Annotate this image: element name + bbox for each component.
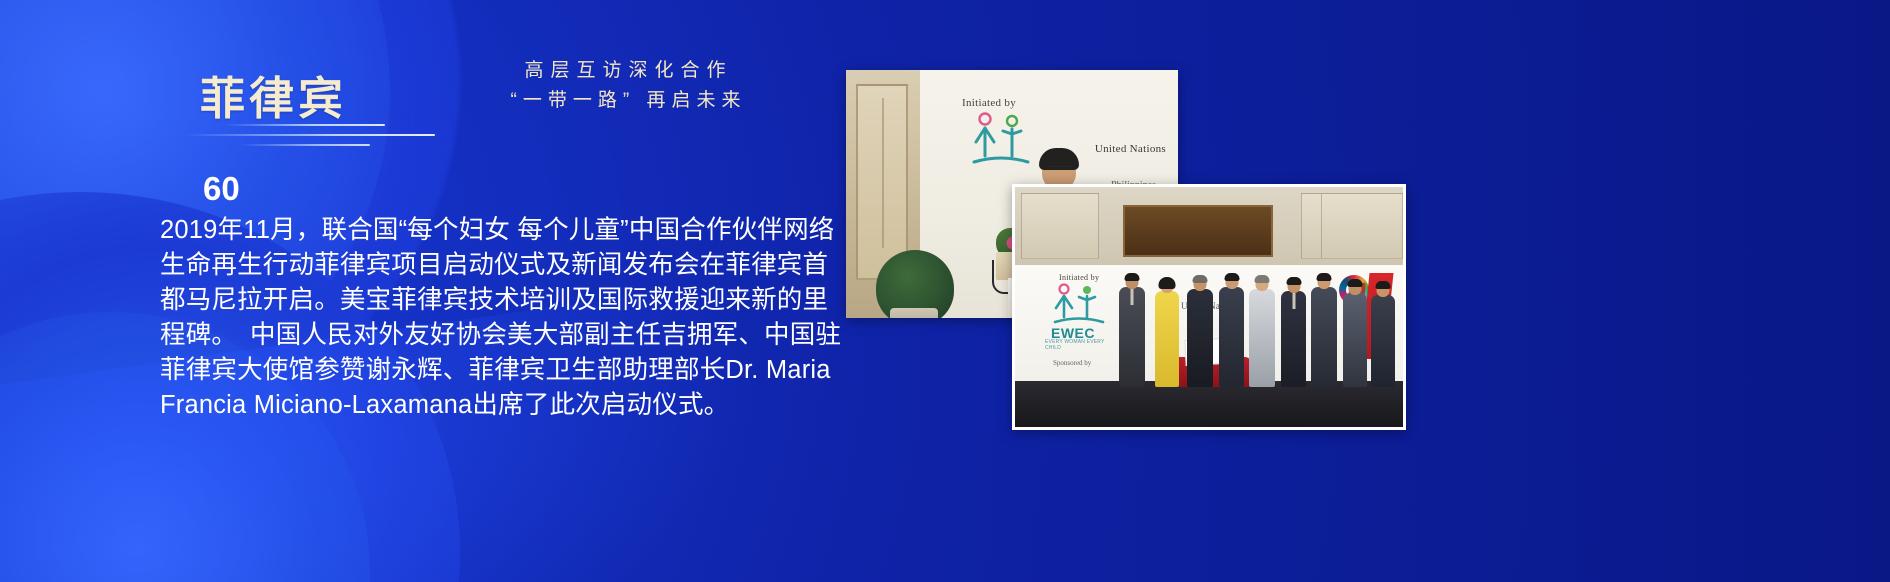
body-paragraph: 2019年11月，联合国“每个妇女 每个儿童”中国合作伙伴网络生命再生行动菲律宾…	[160, 213, 850, 423]
slide-canvas: 菲律宾 高层互访深化合作 “一带一路” 再启未来 60 2019年11月，联合国…	[0, 0, 1890, 582]
photo1-initiated-text: Initiated by	[962, 97, 1016, 109]
headline: 高层互访深化合作 “一带一路” 再启未来	[430, 56, 820, 116]
photo2-wall-panel	[1021, 193, 1099, 259]
photo1-cable	[992, 260, 1008, 294]
photo2-person	[1371, 283, 1395, 387]
person-hair	[1255, 275, 1270, 283]
person-hair	[1224, 273, 1239, 281]
person-torso	[1311, 287, 1337, 387]
person-torso	[1249, 289, 1275, 387]
photo2-sponsored-text: Sponsored by	[1053, 359, 1091, 367]
person-hair	[1125, 273, 1140, 281]
photo2-ewec-logo-subtext: EVERY WOMAN EVERY CHILD	[1045, 339, 1115, 351]
headline-line-1: 高层互访深化合作	[430, 56, 820, 86]
photo2-person	[1343, 281, 1367, 387]
photo-group-ceremony: Initiated by EWEC EVERY WOMAN EVERY CHIL…	[1012, 184, 1406, 430]
photo2-person	[1155, 279, 1179, 387]
page-title: 菲律宾	[200, 62, 347, 127]
item-number: 60	[203, 170, 240, 208]
photo2-person	[1187, 277, 1213, 387]
person-hair	[1317, 273, 1332, 281]
photo2-stage-front	[1015, 381, 1403, 427]
person-torso	[1155, 291, 1179, 387]
photo2-person	[1311, 275, 1337, 387]
person-tie	[1131, 289, 1134, 305]
photo2-person	[1219, 275, 1244, 387]
person-torso	[1343, 293, 1367, 387]
person-torso	[1371, 295, 1395, 387]
person-hair	[1159, 277, 1176, 289]
person-hair	[1193, 275, 1208, 283]
person-hair	[1348, 279, 1363, 287]
photo1-speaker-glasses	[1046, 166, 1072, 172]
photo2-wood-cabinet	[1123, 205, 1273, 257]
ewec-pictogram-icon-backdrop	[1053, 283, 1105, 331]
photo1-plant-pot	[890, 308, 938, 318]
photo2-initiated-text: Initiated by	[1059, 273, 1099, 282]
person-tie	[1292, 293, 1295, 309]
photo2-person	[1249, 277, 1275, 387]
person-torso	[1219, 287, 1244, 387]
person-torso	[1187, 289, 1213, 387]
person-hair	[1286, 277, 1301, 285]
photo1-column-panel	[856, 84, 908, 280]
title-divider	[185, 124, 435, 150]
photo2-person	[1281, 279, 1306, 387]
photo2-wall-panel	[1321, 193, 1403, 259]
divider-line-2	[185, 134, 435, 136]
photo2-person	[1119, 275, 1145, 387]
person-hair	[1376, 281, 1391, 289]
headline-line-2: “一带一路” 再启未来	[430, 86, 820, 116]
divider-line-3	[240, 144, 370, 146]
divider-line-1	[225, 124, 385, 126]
photo1-united-nations-text: United Nations	[1095, 143, 1166, 155]
